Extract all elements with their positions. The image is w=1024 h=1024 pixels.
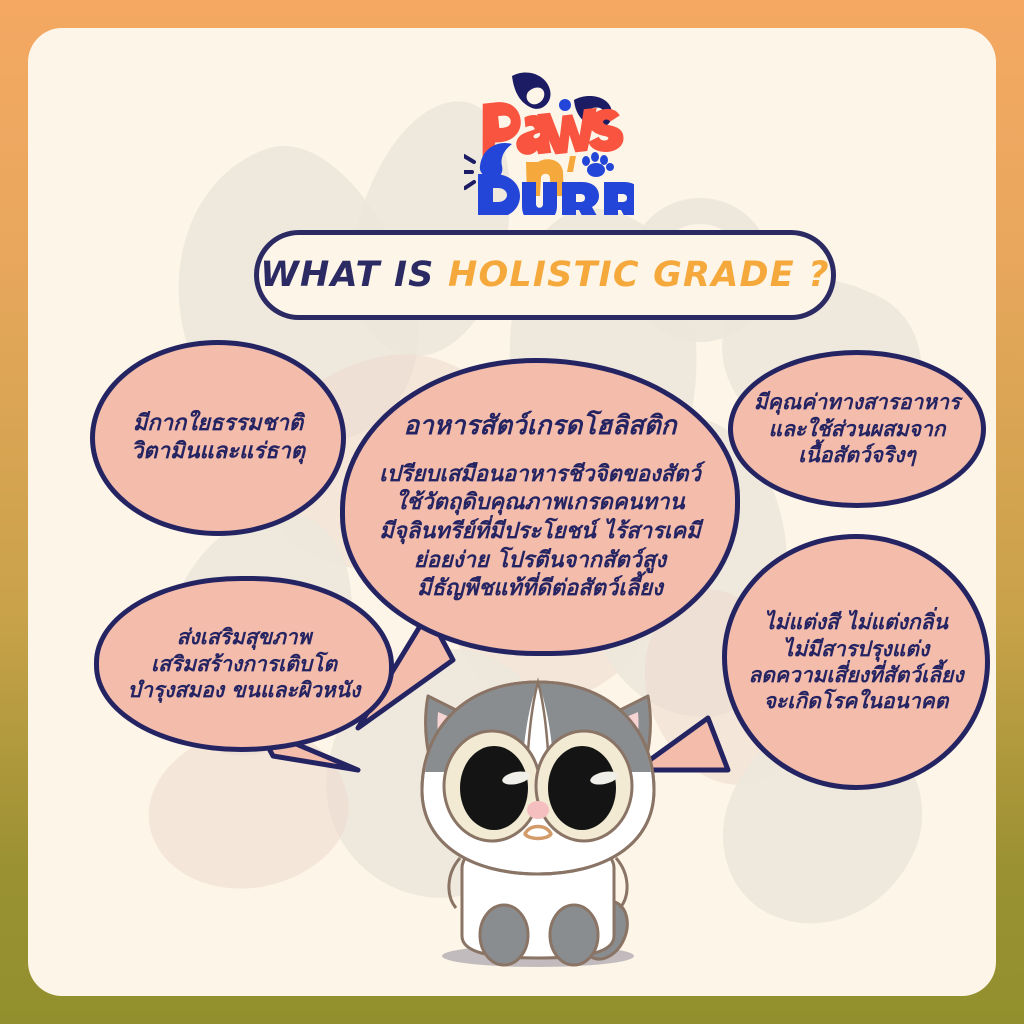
bubble-natural-fiber-text: มีกากใยธรรมชาติ วิตามินและแร่ธาตุ [121, 410, 315, 465]
title-highlight: HOLISTIC GRADE ? [448, 255, 830, 295]
bubble-holistic-stack: อาหารสัตว์เกรดโฮลิสติก เปรียบเสมือนอาหาร… [367, 410, 713, 604]
title-banner: WHAT IS HOLISTIC GRADE ? [254, 230, 836, 320]
bubble-holistic-heading: อาหารสัตว์เกรดโฮลิสติก [379, 410, 701, 443]
poster-inner: WHAT IS HOLISTIC GRADE ? มีกากใยธรรมชาติ… [28, 28, 996, 996]
title-prefix: WHAT IS [260, 255, 448, 295]
cat-mascot [398, 668, 678, 968]
bubble-nutrition-value-text: มีคุณค่าทางสารอาหาร และใช้ส่วนผสมจาก เนื… [744, 389, 970, 468]
bubble-health-growth-text: ส่งเสริมสุขภาพ เสริมสร้างการเติบโต บำรุง… [118, 624, 370, 703]
bubble-holistic-definition: อาหารสัตว์เกรดโฮลิสติก เปรียบเสมือนอาหาร… [340, 358, 740, 656]
bubble-natural-fiber: มีกากใยธรรมชาติ วิตามินและแร่ธาตุ [90, 340, 346, 536]
bubble-nutrition-value: มีคุณค่าทางสารอาหาร และใช้ส่วนผสมจาก เนื… [728, 350, 986, 508]
bubble-health-growth: ส่งเสริมสุขภาพ เสริมสร้างการเติบโต บำรุง… [94, 576, 394, 752]
bubble-holistic-body: เปรียบเสมือนอาหารชีวจิตของสัตว์ ใช้วัตถุ… [379, 461, 701, 604]
paws-n-purr-logo [464, 70, 634, 215]
poster-root: WHAT IS HOLISTIC GRADE ? มีกากใยธรรมชาติ… [0, 0, 1024, 1024]
bubble-no-additives-text: ไม่แต่งสี ไม่แต่งกลิ่น ไม่มีสารปรุงแต่ง … [738, 609, 973, 715]
bubble-no-additives: ไม่แต่งสี ไม่แต่งกลิ่น ไม่มีสารปรุงแต่ง … [722, 534, 990, 790]
page-title: WHAT IS HOLISTIC GRADE ? [260, 255, 829, 295]
